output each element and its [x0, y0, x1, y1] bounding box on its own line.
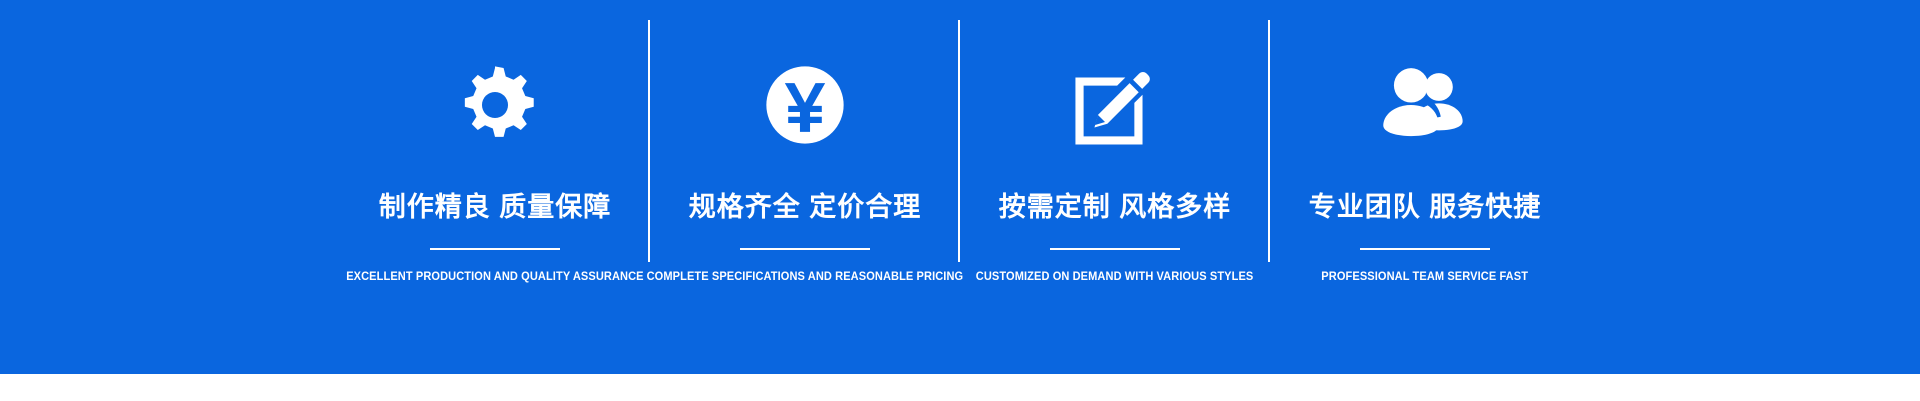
feature-subtitle: CUSTOMIZED ON DEMAND WITH VARIOUS STYLES — [976, 272, 1254, 284]
feature-item-customization[interactable]: 按需定制 风格多样 CUSTOMIZED ON DEMAND WITH VARI… — [960, 0, 1270, 374]
gear-icon — [450, 60, 540, 150]
feature-subtitle: EXCELLENT PRODUCTION AND QUALITY ASSURAN… — [346, 272, 643, 284]
feature-item-quality[interactable]: 制作精良 质量保障 EXCELLENT PRODUCTION AND QUALI… — [340, 0, 650, 374]
feature-item-team[interactable]: 专业团队 服务快捷 PROFESSIONAL TEAM SERVICE FAST — [1270, 0, 1580, 374]
feature-title: 规格齐全 定价合理 — [689, 194, 922, 221]
feature-title: 制作精良 质量保障 — [379, 194, 612, 221]
title-underline — [430, 248, 560, 250]
feature-subtitle: PROFESSIONAL TEAM SERVICE FAST — [1322, 272, 1529, 284]
title-underline — [1050, 248, 1180, 250]
feature-title: 专业团队 服务快捷 — [1309, 194, 1542, 221]
feature-list: 制作精良 质量保障 EXCELLENT PRODUCTION AND QUALI… — [0, 0, 1920, 374]
feature-title: 按需定制 风格多样 — [999, 194, 1232, 221]
feature-banner: 制作精良 质量保障 EXCELLENT PRODUCTION AND QUALI… — [0, 0, 1920, 374]
title-underline — [740, 248, 870, 250]
feature-subtitle: COMPLETE SPECIFICATIONS AND REASONABLE P… — [647, 272, 964, 284]
edit-square-pencil-icon — [1070, 60, 1160, 150]
yen-circle-icon — [760, 60, 850, 150]
users-group-icon — [1380, 60, 1470, 150]
title-underline — [1360, 248, 1490, 250]
feature-item-pricing[interactable]: 规格齐全 定价合理 COMPLETE SPECIFICATIONS AND RE… — [650, 0, 960, 374]
